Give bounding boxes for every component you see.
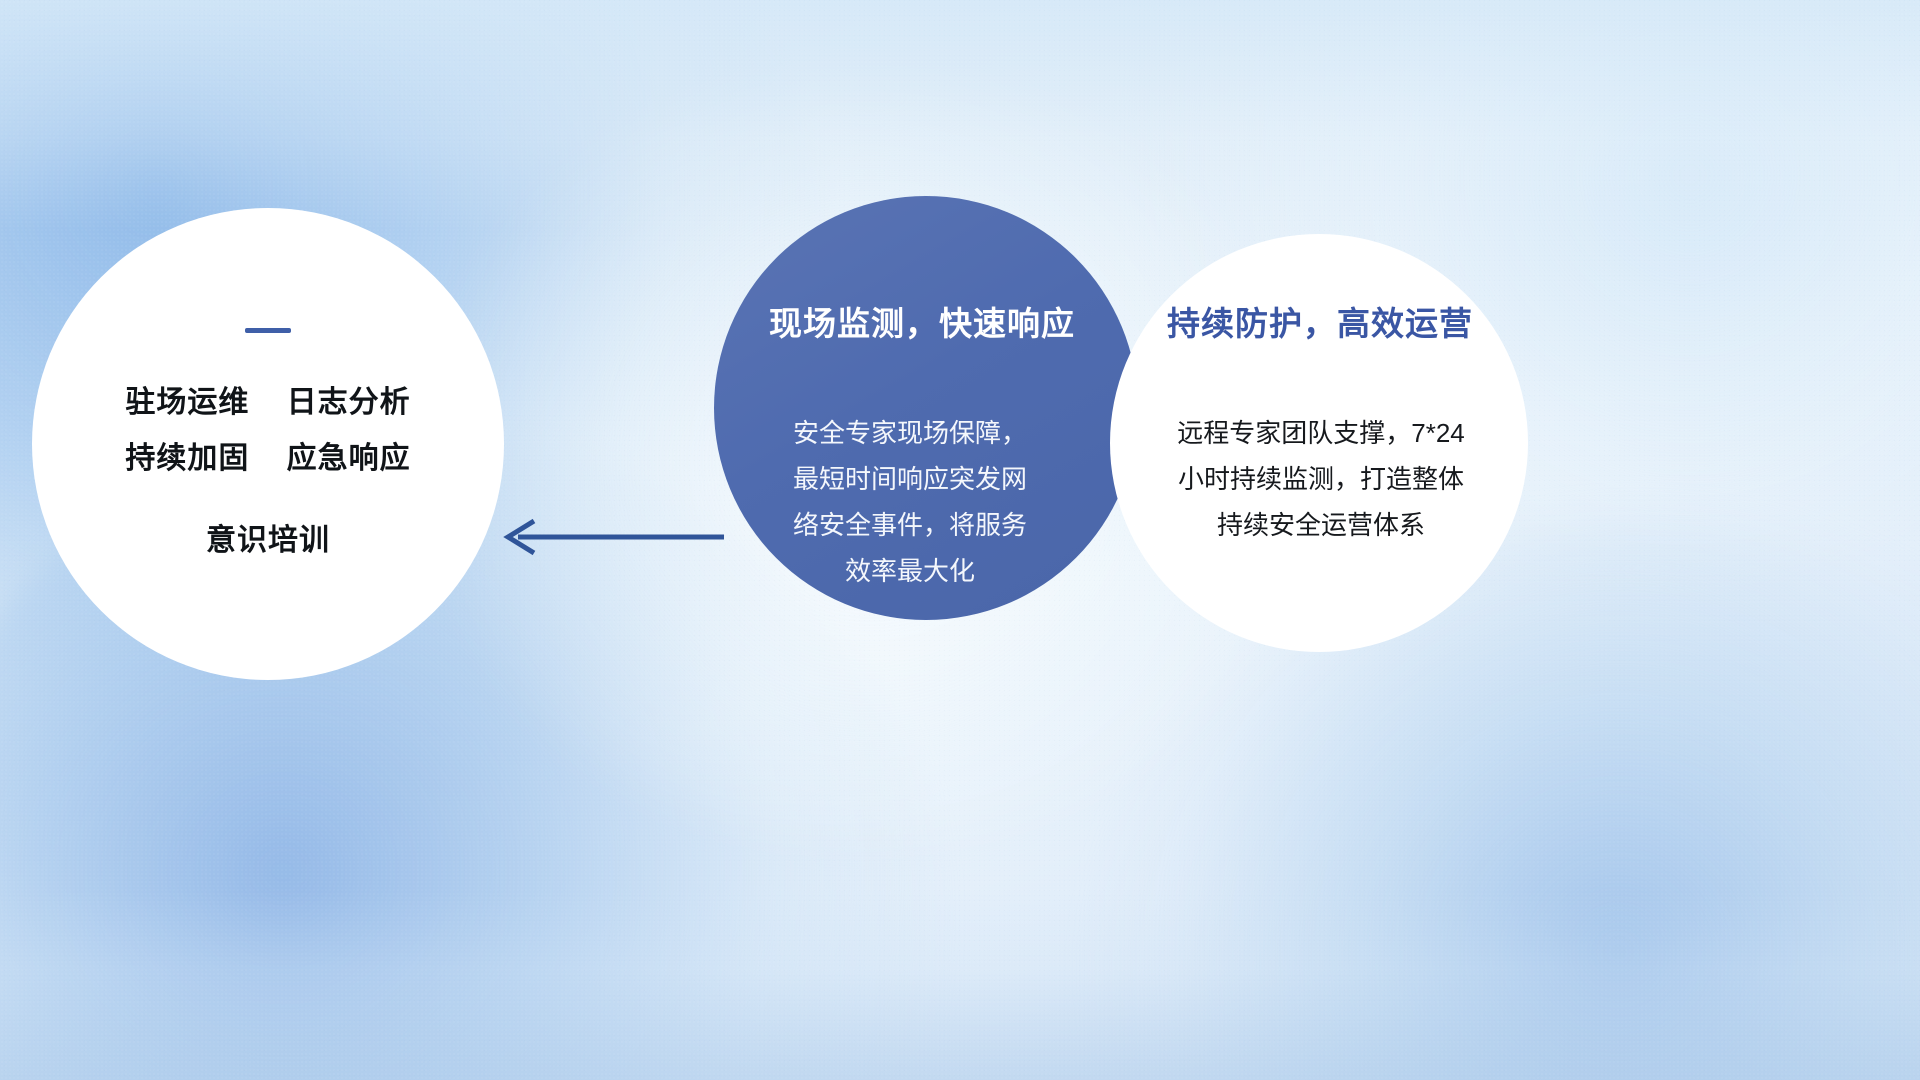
left-keyword-line-1: 驻场运维 日志分析	[125, 375, 410, 431]
blue-circle-title: 现场监测，快速响应	[742, 297, 1102, 345]
left-service-circle: 驻场运维 日志分析 持续加固 应急响应 意识培训	[32, 208, 504, 680]
blue-body-line-3: 络安全事件，将服务	[760, 502, 1060, 548]
blue-body-line-1: 安全专家现场保障，	[760, 410, 1060, 456]
right-body-line-2: 小时持续监测，打造整体	[1128, 456, 1514, 502]
slide-canvas: 驻场运维 日志分析 持续加固 应急响应 意识培训 现场监测，快速响应 安全专家现…	[0, 0, 1920, 1080]
blue-circle-body: 安全专家现场保障， 最短时间响应突发网 络安全事件，将服务 效率最大化	[760, 410, 1060, 594]
blue-body-line-4: 效率最大化	[760, 548, 1060, 594]
right-body-line-1: 远程专家团队支撑，7*24	[1128, 410, 1514, 456]
right-circle-title: 持续防护，高效运营	[1140, 297, 1500, 345]
arrow-left-icon	[488, 505, 728, 569]
left-service-keywords: 驻场运维 日志分析 持续加固 应急响应 意识培训	[125, 375, 410, 569]
blue-body-line-2: 最短时间响应突发网	[760, 456, 1060, 502]
right-body-line-3: 持续安全运营体系	[1128, 502, 1514, 548]
left-keyword-line-2: 持续加固 应急响应	[125, 431, 410, 487]
left-keyword-line-3: 意识培训	[125, 513, 410, 569]
short-dash-divider-icon	[245, 328, 291, 333]
right-circle-body: 远程专家团队支撑，7*24 小时持续监测，打造整体 持续安全运营体系	[1128, 410, 1514, 548]
